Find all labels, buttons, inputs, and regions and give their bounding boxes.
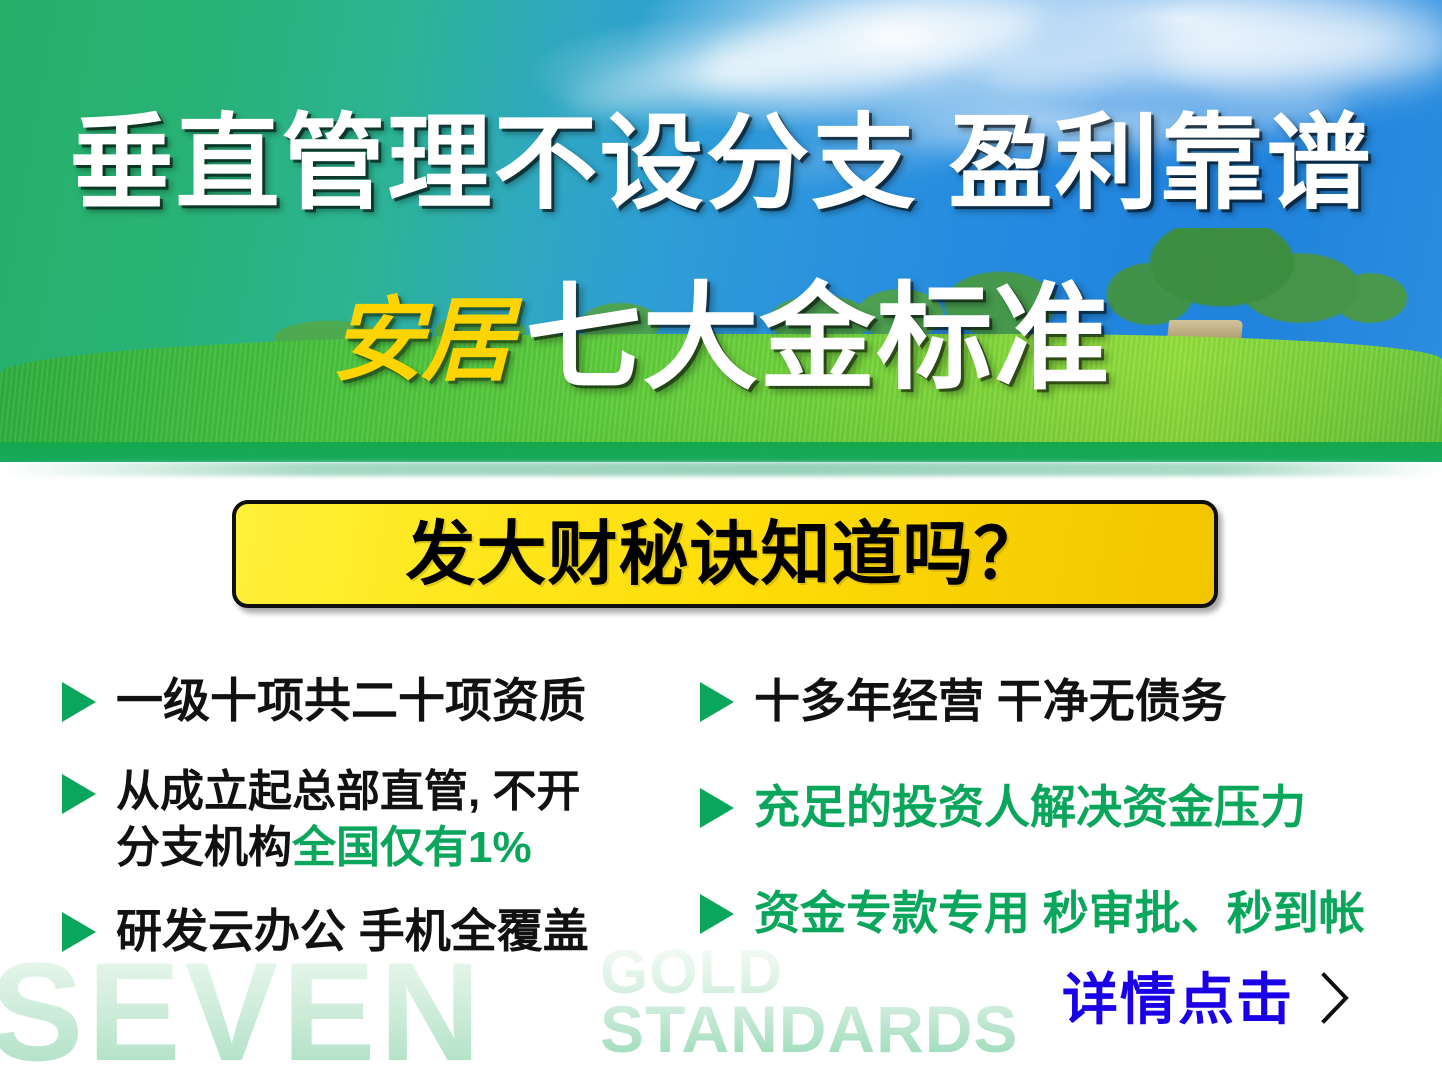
list-item: 资金专款专用 秒审批、秒到帐	[700, 884, 1400, 942]
highlight-banner[interactable]: 发大财秘诀知道吗？	[232, 500, 1218, 608]
list-item-line2-highlight: 全国仅有1%	[292, 823, 532, 872]
details-cta-link[interactable]: 详情点击	[1062, 968, 1352, 1031]
list-item: 充足的投资人解决资金压力	[700, 778, 1400, 836]
list-item-label: 一级十项共二十项资质	[116, 672, 586, 730]
hero-headline-line2: 安居七大金标准	[0, 280, 1442, 399]
triangle-right-icon	[62, 912, 96, 952]
feature-list-left: 一级十项共二十项资质 从成立起总部直管, 不开 分支机构全国仅有1% 研发云办公…	[62, 672, 682, 994]
hero-bottom-band	[0, 442, 1442, 462]
triangle-right-icon	[62, 682, 96, 722]
list-item-line1: 从成立起总部直管, 不开	[116, 767, 580, 816]
list-item: 研发云办公 手机全覆盖	[62, 902, 682, 960]
triangle-right-icon	[700, 682, 734, 722]
watermark-standards: STANDARDS	[600, 996, 1018, 1062]
list-item-label: 十多年经营 干净无债务	[754, 672, 1227, 730]
chevron-right-icon	[1318, 970, 1352, 1031]
hero-drop-shadow	[0, 462, 1442, 476]
list-item-label: 充足的投资人解决资金压力	[754, 778, 1306, 836]
triangle-right-icon	[700, 788, 734, 828]
list-item-line2-plain: 分支机构	[116, 823, 292, 872]
hero-headline-main: 七大金标准	[526, 273, 1111, 403]
list-item-label: 从成立起总部直管, 不开 分支机构全国仅有1%	[116, 764, 580, 876]
list-item: 从成立起总部直管, 不开 分支机构全国仅有1%	[62, 764, 682, 876]
highlight-banner-label: 发大财秘诀知道吗？	[406, 519, 1045, 589]
list-item: 一级十项共二十项资质	[62, 672, 682, 730]
details-cta-label: 详情点击	[1062, 970, 1294, 1030]
promo-poster: 垂直管理不设分支 盈利靠谱 安居七大金标准 发大财秘诀知道吗？ 一级十项共二十项…	[0, 0, 1442, 1066]
hero-banner: 垂直管理不设分支 盈利靠谱 安居七大金标准	[0, 0, 1442, 462]
cloud-shape	[1160, 0, 1442, 96]
hero-headline-line1: 垂直管理不设分支 盈利靠谱	[0, 112, 1442, 216]
feature-list-right: 十多年经营 干净无债务 充足的投资人解决资金压力 资金专款专用 秒审批、秒到帐	[700, 672, 1400, 990]
brand-name: 安居	[331, 290, 511, 392]
list-item-label: 资金专款专用 秒审批、秒到帐	[754, 884, 1365, 942]
list-item: 十多年经营 干净无债务	[700, 672, 1400, 730]
list-item-label: 研发云办公 手机全覆盖	[116, 902, 589, 960]
triangle-right-icon	[700, 894, 734, 934]
triangle-right-icon	[62, 774, 96, 814]
